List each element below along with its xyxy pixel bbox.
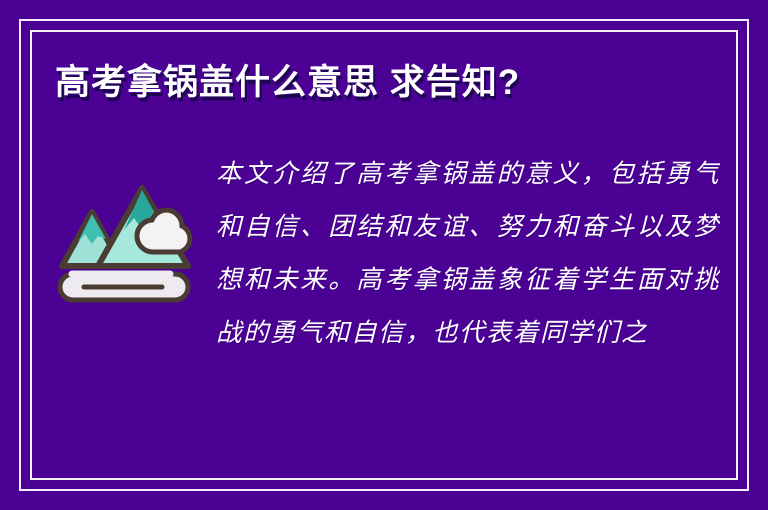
title-container: 高考拿锅盖什么意思 求告知? [55, 64, 720, 103]
base-bar-shape [60, 274, 188, 300]
page-title: 高考拿锅盖什么意思 求告知? [55, 64, 720, 103]
content-row: 本文介绍了高考拿锅盖的意义，包括勇气和自信、团结和友谊、努力和奋斗以及梦想和未来… [48, 148, 720, 360]
poster-canvas: 高考拿锅盖什么意思 求告知? 本文介绍了高考拿锅盖的意义，包 [0, 0, 768, 510]
illustration-container [48, 148, 208, 304]
mountain-landscape-icon [54, 154, 202, 304]
article-body-text: 本文介绍了高考拿锅盖的意义，包括勇气和自信、团结和友谊、努力和奋斗以及梦想和未来… [208, 148, 720, 360]
